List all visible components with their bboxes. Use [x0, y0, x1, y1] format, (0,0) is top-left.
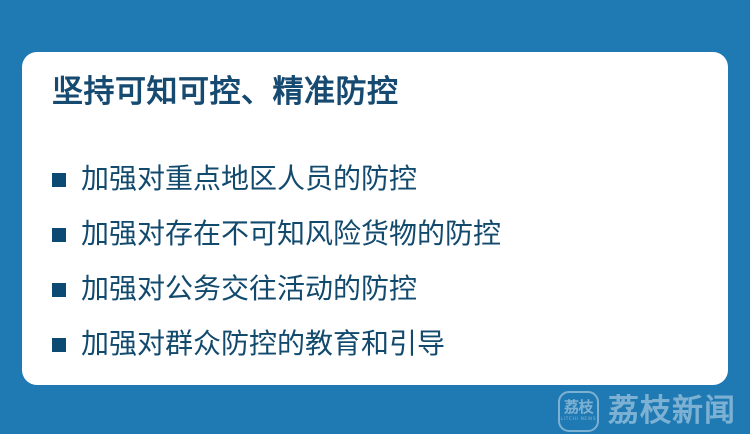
- list-item-label: 加强对重点地区人员的防控: [81, 164, 417, 195]
- square-bullet-icon: [52, 228, 66, 242]
- list-item: 加强对存在不可知风险货物的防控: [52, 207, 708, 262]
- poster-background: 坚持可知可控、精准防控 加强对重点地区人员的防控 加强对存在不可知风险货物的防控…: [0, 0, 750, 434]
- square-bullet-icon: [52, 338, 66, 352]
- list-item: 加强对重点地区人员的防控: [52, 152, 708, 207]
- list-item-label: 加强对存在不可知风险货物的防控: [81, 219, 501, 250]
- watermark: 荔枝 LITCHI NEWS 荔枝新闻: [558, 391, 736, 432]
- watermark-label: 荔枝新闻: [608, 396, 736, 427]
- list-item-label: 加强对公务交往活动的防控: [81, 274, 417, 305]
- logo-badge-sublabel: LITCHI NEWS: [561, 418, 597, 423]
- square-bullet-icon: [52, 173, 66, 187]
- content-card: 坚持可知可控、精准防控 加强对重点地区人员的防控 加强对存在不可知风险货物的防控…: [22, 52, 728, 385]
- list-item: 加强对群众防控的教育和引导: [52, 317, 708, 372]
- page-title: 坚持可知可控、精准防控: [52, 74, 399, 111]
- list-item: 加强对公务交往活动的防控: [52, 262, 708, 317]
- bullet-list: 加强对重点地区人员的防控 加强对存在不可知风险货物的防控 加强对公务交往活动的防…: [52, 152, 708, 372]
- list-item-label: 加强对群众防控的教育和引导: [81, 329, 445, 360]
- logo-badge-label: 荔枝: [564, 400, 593, 415]
- litchi-logo-icon: 荔枝 LITCHI NEWS: [558, 391, 599, 432]
- square-bullet-icon: [52, 283, 66, 297]
